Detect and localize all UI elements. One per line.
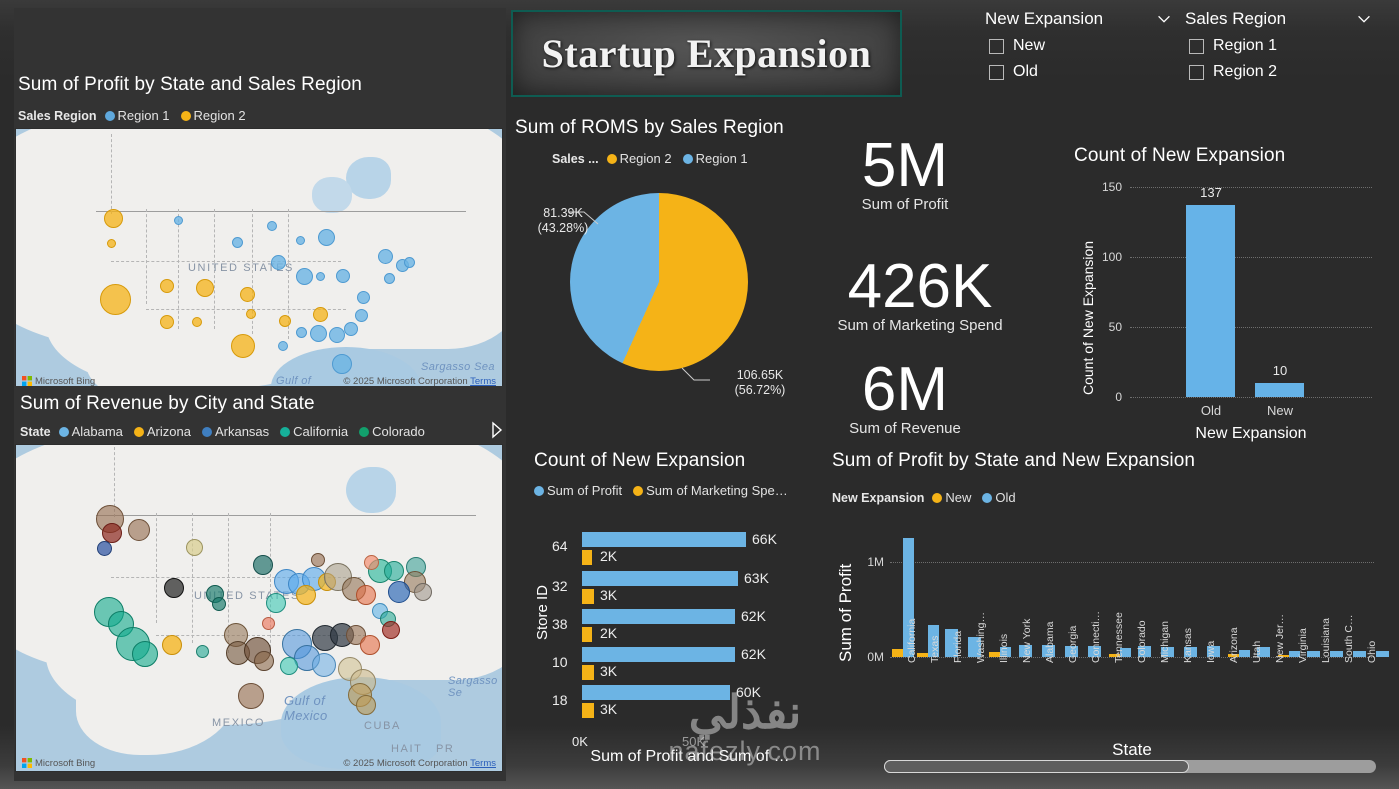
checkbox-region-1[interactable] [1189,39,1204,54]
map-bubble[interactable] [253,555,273,575]
map-bubble[interactable] [104,209,123,228]
map-bubble[interactable] [254,651,274,671]
dashboard-canvas: Startup Expansion New Expansion New Old … [0,0,1399,789]
map-bubble[interactable] [240,287,255,302]
hbar-spend-38[interactable] [582,627,592,642]
map-bubble[interactable] [384,273,395,284]
map-label-haiti: HAIT [391,743,422,755]
profit-by-state-legend: New Expansion New Old [832,490,1023,505]
y-tick-100: 100 [1092,250,1122,264]
legend-dot-region-1 [105,111,115,121]
profit-by-state-x-axis-title: State [890,740,1374,760]
map-bubble[interactable] [296,236,305,245]
state-label-michigan: Michigan [1159,621,1171,663]
map-bubble[interactable] [278,341,288,351]
state-label-texas: Texas [929,636,941,663]
kpi-sum-of-revenue[interactable]: 6M Sum of Revenue [790,358,1020,437]
state-label-colorado: Colorado [1136,620,1148,663]
y-tick-50: 50 [1092,320,1122,334]
map-bubble[interactable] [404,257,415,268]
map-bubble[interactable] [266,593,286,613]
hbar-profit-10[interactable] [582,647,735,662]
legend-label-sum-of-marketing-spend: Sum of Marketing Spe… [646,483,788,498]
map-bubble[interactable] [311,553,325,567]
state-bar-new-texas[interactable] [917,653,928,657]
store-id-panel: Count of New Expansion Sum of Profit Sum… [510,440,830,780]
column-bar-new[interactable] [1255,383,1304,397]
checkbox-new[interactable] [989,39,1004,54]
legend-dot-alabama [59,427,69,437]
legend-dot-old [982,493,992,503]
state-label-virginia: Virginia [1297,628,1309,663]
map-bubble[interactable] [313,307,328,322]
slicer-option-old[interactable]: Old [985,63,1173,81]
bing-provider-label: Microsoft Bing [35,758,95,769]
map-bubble[interactable] [344,322,358,336]
legend-item-region-2[interactable]: Region 2 [181,108,246,123]
slicer-option-region-1[interactable]: Region 1 [1185,37,1373,55]
slicer-sales-region[interactable]: Sales Region Region 1 Region 2 [1185,9,1373,81]
kpi-sum-of-revenue-value: 6M [790,358,1020,422]
legend-label-region-1: Region 1 [118,108,170,123]
gridline-0 [1130,397,1372,398]
checkbox-region-2[interactable] [1189,65,1204,80]
map-bubble[interactable] [296,268,313,285]
profit-by-state-legend-title: New Expansion [832,491,924,505]
slicer-new-expansion-title: New Expansion [985,9,1103,29]
map-profit-copyright: © 2025 Microsoft Corporation [343,376,467,387]
legend-dot-sum-of-marketing-spend [633,486,643,496]
slicer-sales-region-title: Sales Region [1185,9,1286,29]
state-label-florida: Florida [952,631,964,663]
legend-next-arrow-icon[interactable] [491,421,503,444]
slicer-option-region-1-label: Region 1 [1213,37,1277,55]
profit-by-state-panel: Sum of Profit by State and New Expansion… [828,450,1384,780]
legend-dot-region-2 [181,111,191,121]
roms-pie-title: Sum of ROMS by Sales Region [515,117,784,139]
roms-pie-panel: Sum of ROMS by Sales Region Sales ... Re… [510,108,830,428]
kpi-sum-of-marketing-spend[interactable]: 426K Sum of Marketing Spend [805,255,1035,334]
map-label-sargasso-sea: Sargasso Sea [421,361,495,373]
map-bubble[interactable] [186,539,203,556]
map-bubble[interactable] [271,255,286,270]
map-bubble[interactable] [128,519,150,541]
hbar-spend-18[interactable] [582,703,594,718]
bing-logo-icon [22,758,32,768]
slicer-option-region-2[interactable]: Region 2 [1185,63,1373,81]
kpi-sum-of-marketing-spend-value: 426K [805,255,1035,319]
roms-pie-legend-title: Sales ... [552,152,599,166]
map-bubble[interactable] [231,334,255,358]
legend-label-old: Old [995,490,1015,505]
map-bubble[interactable] [388,581,410,603]
count-new-expansion-x-axis-title: New Expansion [1130,425,1372,443]
roms-pie-legend: Sales ... Region 2 Region 1 [552,151,755,166]
pie-slice-value-region-2: 106.65K [737,368,784,382]
map-bubble[interactable] [360,635,380,655]
map-bubble[interactable] [355,309,368,322]
profit-by-state-y-axis-title: Sum of Profit [836,564,856,662]
legend-label-alabama: Alabama [72,424,123,439]
slicer-option-new-label: New [1013,37,1045,55]
legend-item-region-2[interactable]: Region 2 [607,151,672,166]
legend-item-arizona[interactable]: Arizona [134,424,191,439]
map-bubble[interactable] [356,585,376,605]
hbar-profit-label-64: 66K [752,531,777,547]
map-bubble[interactable] [296,327,307,338]
bing-logo-icon [22,376,32,386]
map-bubble[interactable] [246,309,256,319]
legend-label-arizona: Arizona [147,424,191,439]
legend-item-new[interactable]: New [932,490,971,505]
map-bubble[interactable] [262,617,275,630]
bing-logo: Microsoft Bing [22,376,95,387]
gridline-100 [1130,257,1372,258]
state-label-georgia: Georgia [1067,626,1079,663]
state-label-new-york: New York [1021,619,1033,663]
slicer-option-region-2-label: Region 2 [1213,63,1277,81]
legend-dot-region-2 [607,154,617,164]
legend-dot-region-1 [683,154,693,164]
store-id-category-64: 64 [552,538,568,554]
map-bubble[interactable] [364,555,379,570]
state-label-louisiana: Louisiana [1320,618,1332,663]
legend-item-arkansas[interactable]: Arkansas [202,424,269,439]
map-bubble[interactable] [279,315,291,327]
hbar-spend-label-32: 3K [600,587,617,603]
legend-item-old[interactable]: Old [982,490,1015,505]
state-label-alabama: Alabama [1044,622,1056,663]
map-bubble[interactable] [378,249,393,264]
map-bubble[interactable] [196,645,209,658]
store-id-x-tick-0k: 0K [572,734,588,749]
state-label-washington: Washing… [975,612,987,663]
state-label-utah: Utah [1251,641,1263,663]
store-id-x-tick-50k: 50K [682,734,705,749]
map-bubble[interactable] [280,657,298,675]
profit-by-state-title: Sum of Profit by State and New Expansion [832,450,1195,472]
map-revenue-attribution: Microsoft Bing © 2025 Microsoft Corporat… [16,755,502,771]
legend-item-region-1[interactable]: Region 1 [105,108,170,123]
map-bubble[interactable] [296,585,316,605]
y-tick-0m: 0M [850,650,884,664]
kpi-sum-of-marketing-spend-caption: Sum of Marketing Spend [805,317,1035,334]
state-label-ohio: Ohio [1366,641,1378,663]
gridline-50 [1130,327,1372,328]
map-bubble[interactable] [107,239,116,248]
store-id-category-10: 10 [552,654,568,670]
y-tick-0: 0 [1092,390,1122,404]
legend-dot-arkansas [202,427,212,437]
state-label-arizona: Arizona [1228,627,1240,663]
slicer-sales-region-header[interactable]: Sales Region [1185,9,1373,29]
state-label-illinois: Illinois [998,634,1010,663]
map-profit-title: Sum of Profit by State and Sales Region [18,74,362,96]
map-bubble[interactable] [160,315,174,329]
map-revenue-legend: State Alabama Arizona Arkansas Californi… [20,424,432,439]
dashboard-title-card: Startup Expansion [511,10,902,97]
map-label-pr: PR [436,743,454,755]
map-bubble[interactable] [310,325,327,342]
y-tick-1m: 1M [850,555,884,569]
map-profit-legend: Sales Region Region 1 Region 2 [18,108,253,123]
state-label-iowa: Iowa [1205,641,1217,663]
legend-dot-colorado [359,427,369,437]
map-bubble[interactable] [132,641,158,667]
legend-dot-arizona [134,427,144,437]
chevron-down-icon[interactable] [1355,10,1373,28]
map-bubble[interactable] [232,237,243,248]
kpi-sum-of-profit-caption: Sum of Profit [790,196,1020,213]
map-bubble[interactable] [238,683,264,709]
map-bubble[interactable] [332,354,352,374]
map-bubble[interactable] [356,695,376,715]
slicer-option-old-label: Old [1013,63,1038,81]
hbar-profit-label-32: 63K [744,570,769,586]
hbar-profit-label-38: 62K [741,608,766,624]
map-profit-legend-title: Sales Region [18,109,97,123]
state-bar-old-arizona[interactable] [1239,650,1250,657]
map-bubble[interactable] [382,621,400,639]
map-bubble[interactable] [160,279,174,293]
hbar-spend-label-18: 3K [600,701,617,717]
map-label-cuba: CUBA [364,720,401,732]
count-new-expansion-title: Count of New Expansion [1074,145,1285,167]
hbar-profit-32[interactable] [582,571,738,586]
pie-slice-percent-region-2: (56.72%) [735,383,786,397]
map-bubble[interactable] [267,221,277,231]
legend-label-new: New [945,490,971,505]
x-category-old: Old [1176,403,1246,418]
map-revenue-canvas[interactable]: UNITED STATES Gulf ofMexico MEXICO CUBA … [15,444,503,772]
hbar-spend-label-38: 2K [600,625,617,641]
state-label-california: California [906,619,918,663]
store-id-category-32: 32 [552,578,568,594]
hbar-spend-label-64: 2K [600,548,617,564]
map-bubble[interactable] [196,279,214,297]
map-bubble[interactable] [318,229,335,246]
state-label-new-jersey: New Jer… [1274,614,1286,663]
map-label-mexico: MEXICO [212,717,265,729]
map-bubble[interactable] [192,317,202,327]
column-value-new: 10 [1245,363,1315,378]
legend-item-california[interactable]: California [280,424,348,439]
legend-item-region-1[interactable]: Region 1 [683,151,748,166]
hbar-profit-label-10: 62K [741,646,766,662]
map-label-sargasso-se: Sargasso Se [448,675,502,699]
store-id-y-axis-title: Store ID [534,585,551,640]
pie-slice-label-region-1: 81.39K (43.28%) [518,206,608,236]
map-bubble[interactable] [102,523,122,543]
legend-label-region-2: Region 2 [194,108,246,123]
map-bubble[interactable] [336,269,350,283]
slicer-new-expansion-header[interactable]: New Expansion [985,9,1173,29]
state-label-south-carolina: South C… [1343,615,1355,663]
legend-item-sum-of-profit[interactable]: Sum of Profit [534,483,622,498]
count-new-expansion-panel: Count of New Expansion Count of New Expa… [1062,140,1382,450]
y-tick-150: 150 [1092,180,1122,194]
scrollbar-thumb[interactable] [884,760,1189,773]
horizontal-scrollbar[interactable] [884,760,1376,773]
legend-item-colorado[interactable]: Colorado [359,424,425,439]
map-bubble[interactable] [100,284,131,315]
chevron-down-icon[interactable] [1155,10,1173,28]
kpi-sum-of-revenue-caption: Sum of Revenue [790,420,1020,437]
legend-label-region-1: Region 1 [696,151,748,166]
state-label-kansas: Kansas [1182,628,1194,663]
legend-label-arkansas: Arkansas [215,424,269,439]
map-bubble[interactable] [162,635,182,655]
map-bubble[interactable] [97,541,112,556]
store-id-category-18: 18 [552,692,568,708]
legend-label-region-2: Region 2 [620,151,672,166]
map-bubble[interactable] [312,653,336,677]
map-bubble[interactable] [384,561,404,581]
hbar-profit-18[interactable] [582,685,730,700]
map-profit-terms-link[interactable]: Terms [470,376,496,387]
state-label-connecticut: Connecti… [1090,611,1102,663]
map-revenue-copyright-wrap: © 2025 Microsoft Corporation Terms [343,758,496,769]
legend-item-sum-of-marketing-spend[interactable]: Sum of Marketing Spe… [633,483,788,498]
column-value-old: 137 [1176,185,1246,200]
count-new-expansion-y-axis-title: Count of New Expansion [1080,241,1096,395]
checkbox-old[interactable] [989,65,1004,80]
kpi-sum-of-profit[interactable]: 5M Sum of Profit [790,134,1020,213]
map-bubble[interactable] [164,578,184,598]
legend-label-california: California [293,424,348,439]
legend-dot-california [280,427,290,437]
map-profit-copyright-wrap: © 2025 Microsoft Corporation Terms [343,376,496,387]
map-label-gulf-of-mexico: Gulf ofMexico [284,693,328,723]
legend-dot-sum-of-profit [534,486,544,496]
column-bar-old[interactable] [1186,205,1235,397]
map-bubble[interactable] [316,272,325,281]
map-bubble[interactable] [357,291,370,304]
hbar-spend-64[interactable] [582,550,592,565]
hbar-profit-64[interactable] [582,532,746,547]
store-id-x-axis-title: Sum of Profit and Sum of … [550,748,830,766]
store-id-legend: Sum of Profit Sum of Marketing Spe… [534,483,795,498]
hbar-profit-label-18: 60K [736,684,761,700]
state-bar-new-california[interactable] [892,649,903,657]
pie-slice-percent-region-1: (43.28%) [538,221,589,235]
slicer-new-expansion[interactable]: New Expansion New Old [985,9,1173,81]
state-label-tennessee: Tennessee [1113,612,1125,663]
hbar-spend-label-10: 3K [600,663,617,679]
store-id-title: Count of New Expansion [534,450,745,472]
pie-slice-value-region-1: 81.39K [543,206,583,220]
kpi-sum-of-profit-value: 5M [790,134,1020,198]
map-revenue-terms-link[interactable]: Terms [470,758,496,769]
legend-item-alabama[interactable]: Alabama [59,424,123,439]
hbar-spend-32[interactable] [582,589,594,604]
map-revenue-copyright: © 2025 Microsoft Corporation [343,758,467,769]
bing-logo: Microsoft Bing [22,758,95,769]
legend-label-sum-of-profit: Sum of Profit [547,483,622,498]
hbar-profit-38[interactable] [582,609,735,624]
slicer-option-new[interactable]: New [985,37,1173,55]
map-bubble[interactable] [329,327,345,343]
map-profit-canvas[interactable]: UNITED STATES Sargasso Sea Gulf of [15,128,503,390]
legend-label-colorado: Colorado [372,424,425,439]
map-bubble[interactable] [414,583,432,601]
x-category-new: New [1245,403,1315,418]
map-bubble[interactable] [212,597,226,611]
map-revenue-title: Sum of Revenue by City and State [20,393,315,415]
hbar-spend-10[interactable] [582,665,594,680]
gridline-150 [1130,187,1372,188]
bing-provider-label: Microsoft Bing [35,376,95,387]
legend-dot-new [932,493,942,503]
map-revenue-legend-title: State [20,425,51,439]
store-id-category-38: 38 [552,616,568,632]
map-bubble[interactable] [174,216,183,225]
page-title: Startup Expansion [542,30,872,77]
